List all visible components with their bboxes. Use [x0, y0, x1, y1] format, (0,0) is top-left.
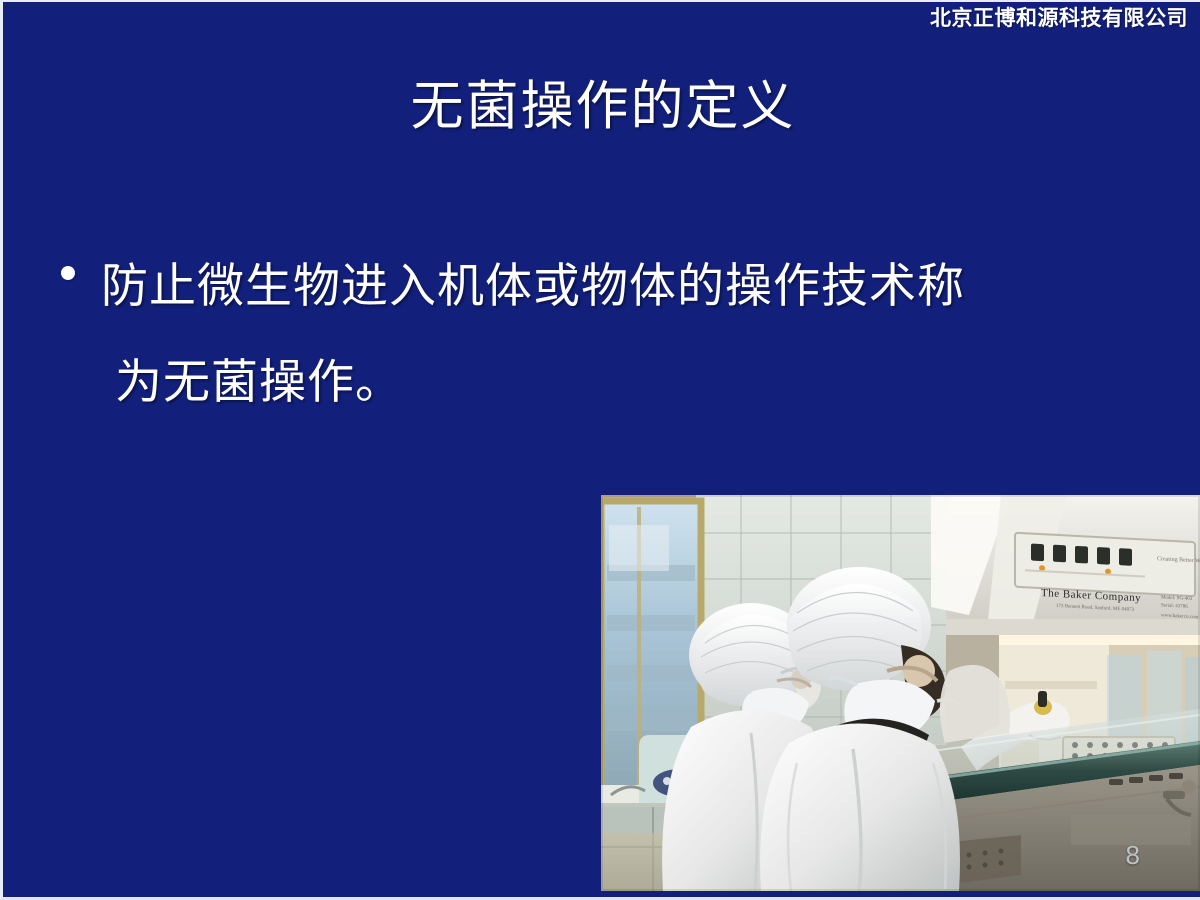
- presentation-slide: 北京正博和源科技有限公司 无菌操作的定义 防止微生物进入机体或物体的操作技术称 …: [0, 0, 1200, 900]
- lab-operation-photo: Creating Better Working Atmospheres The …: [601, 495, 1200, 891]
- page-number: 8: [1126, 841, 1140, 869]
- bullet-line-1: 防止微生物进入机体或物体的操作技术称: [101, 259, 965, 312]
- bullet-line-2: 为无菌操作。: [101, 355, 403, 408]
- bullet-dot-icon: [61, 266, 75, 280]
- company-header: 北京正博和源科技有限公司: [930, 6, 1188, 32]
- slide-body: 防止微生物进入机体或物体的操作技术称 为无菌操作。: [61, 238, 1121, 430]
- bullet-text: 防止微生物进入机体或物体的操作技术称 为无菌操作。: [101, 238, 1121, 430]
- list-item: 防止微生物进入机体或物体的操作技术称 为无菌操作。: [61, 238, 1121, 430]
- page-title: 无菌操作的定义: [3, 76, 1200, 138]
